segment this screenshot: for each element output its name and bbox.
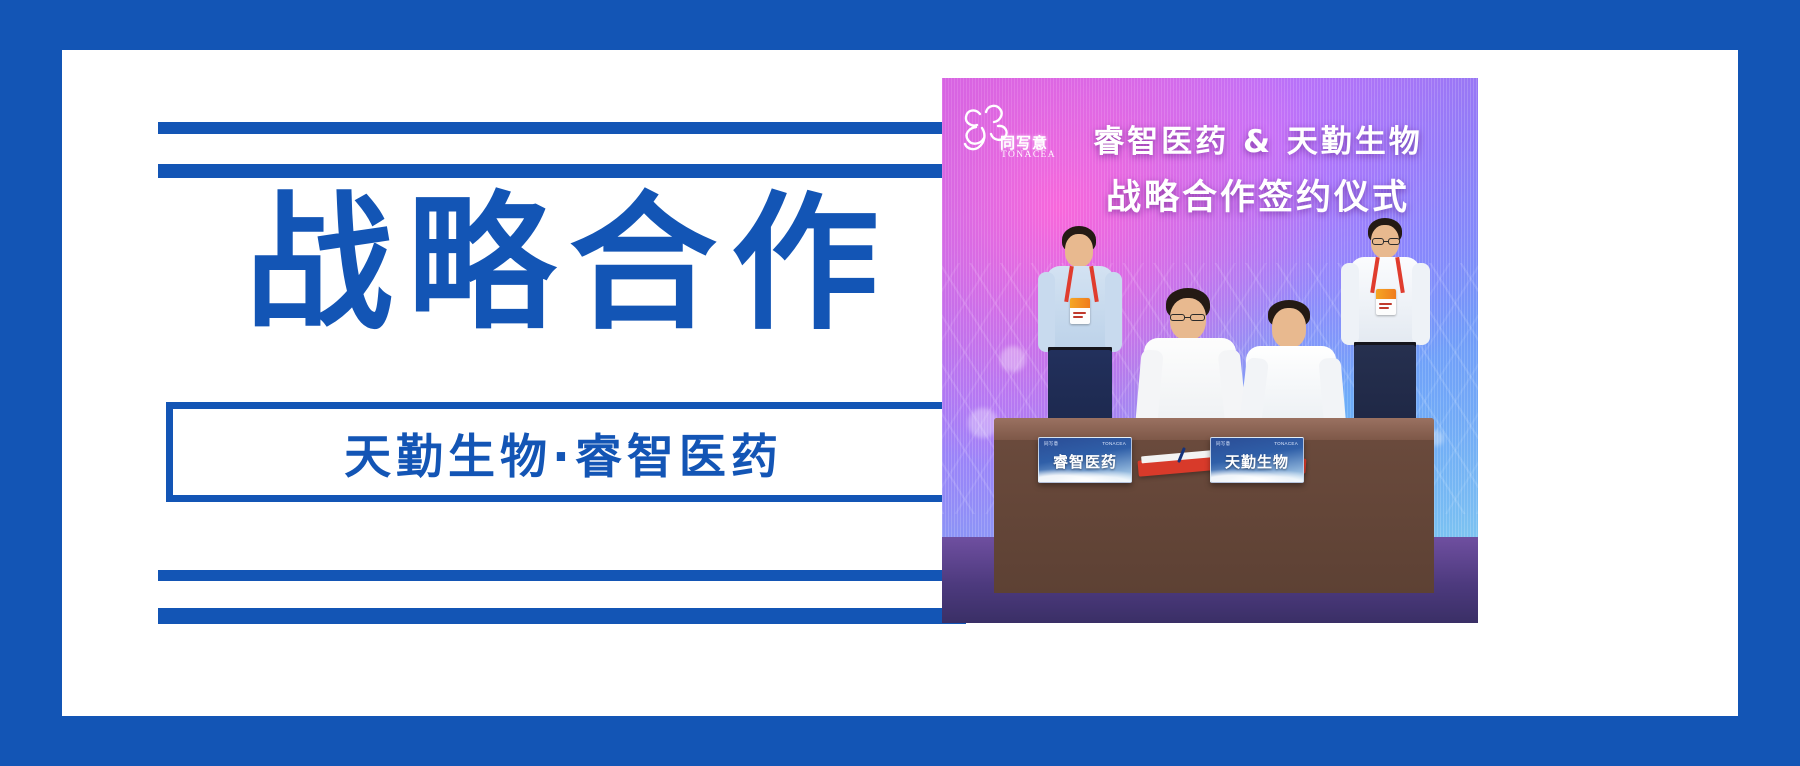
bottom-thick-rule <box>158 608 966 624</box>
badge <box>1376 289 1396 315</box>
nameplate-brand-cn: 同写意 <box>1216 441 1230 449</box>
nameplate-brand-row: 同写意 TONACEA <box>1216 441 1298 449</box>
badge-line <box>1379 307 1389 309</box>
nameplate-brand-en: TONACEA <box>1102 441 1126 449</box>
tonacea-logo: 同写意 TONACEA <box>956 104 1064 178</box>
nameplate-brand-row: 同写意 TONACEA <box>1044 441 1126 449</box>
poster-root: 战略合作 天勤生物·睿智医药 <box>0 0 1800 766</box>
glasses-icon <box>1372 238 1384 245</box>
badge-header <box>1376 289 1396 299</box>
glasses-icon <box>1190 314 1205 321</box>
badge-line <box>1073 316 1083 318</box>
arm-left <box>1038 272 1055 352</box>
glasses-icon <box>1170 314 1185 321</box>
led-banner: 睿智医药 & 天勤生物 战略合作签约仪式 <box>1054 116 1462 220</box>
subtitle-box: 天勤生物·睿智医药 <box>166 402 956 502</box>
badge-header <box>1070 298 1090 308</box>
nameplate-left: 同写意 TONACEA 睿智医药 <box>1038 437 1132 483</box>
arm-right <box>1105 272 1122 352</box>
top-thin-rule <box>158 122 966 134</box>
nameplate-brand-cn: 同写意 <box>1044 441 1058 449</box>
badge-line <box>1379 303 1392 305</box>
bokeh-dot <box>1000 346 1026 372</box>
subtitle-text: 天勤生物·睿智医药 <box>339 418 783 487</box>
led-banner-line2: 战略合作签约仪式 <box>1054 169 1462 220</box>
white-card: 战略合作 天勤生物·睿智医药 <box>62 50 1738 716</box>
logo-en-text: TONACEA <box>1001 150 1056 160</box>
glasses-bridge <box>1185 317 1190 318</box>
nameplate-right: 同写意 TONACEA 天勤生物 <box>1210 437 1304 483</box>
nameplate-brand-en: TONACEA <box>1274 441 1298 449</box>
event-photo: 同写意 TONACEA 睿智医药 & 天勤生物 战略合作签约仪式 <box>942 78 1478 623</box>
nameplate-wave-graphic <box>1039 466 1131 482</box>
nameplate-wave-graphic <box>1211 466 1303 482</box>
arm-left <box>1341 263 1359 345</box>
head <box>1272 308 1306 348</box>
top-thick-rule <box>158 164 966 178</box>
glasses-bridge <box>1384 241 1389 242</box>
page-title: 战略合作 <box>158 190 966 338</box>
left-text-column: 战略合作 天勤生物·睿智医药 <box>158 70 966 696</box>
head <box>1065 234 1093 267</box>
arm-right <box>1412 263 1430 345</box>
glasses-icon <box>1388 238 1400 245</box>
led-banner-line1: 睿智医药 & 天勤生物 <box>1054 116 1462 161</box>
badge <box>1070 298 1090 324</box>
badge-line <box>1073 312 1086 314</box>
bottom-thin-rule <box>158 570 966 581</box>
